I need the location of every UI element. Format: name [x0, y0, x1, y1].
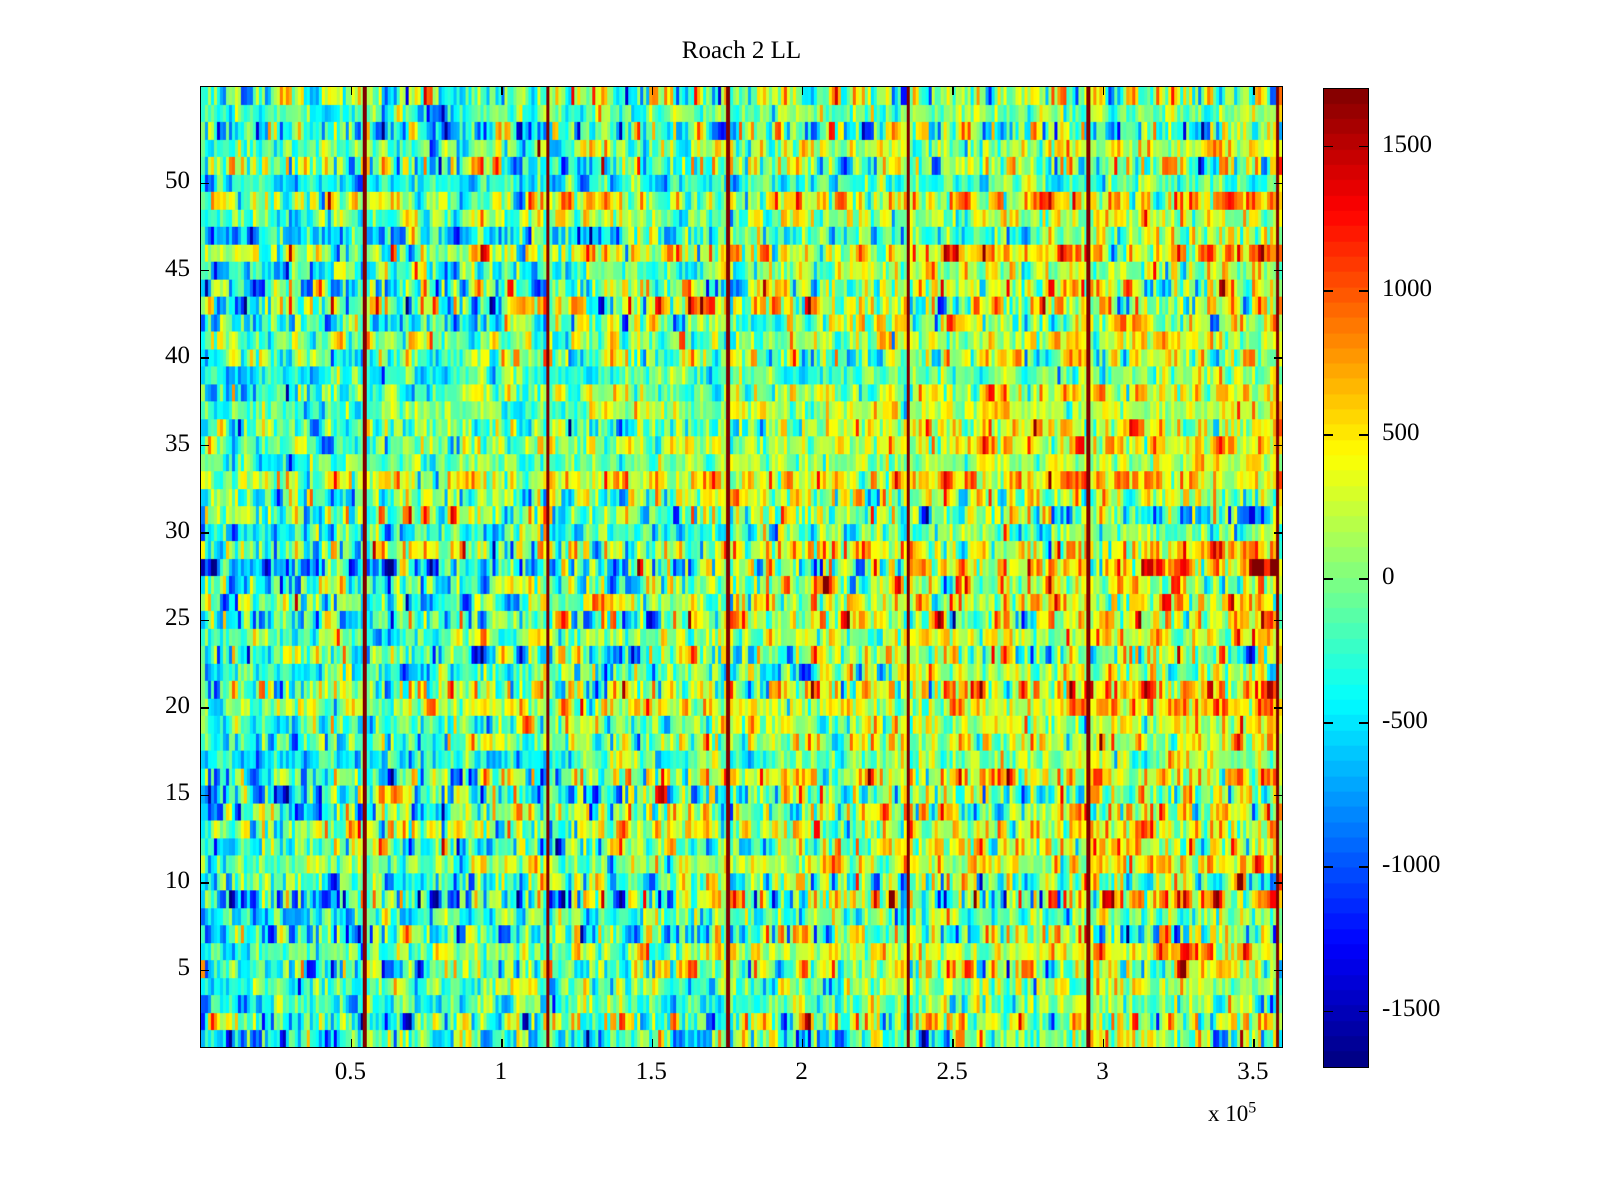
y-axis-tick-left [201, 445, 209, 446]
figure-canvas: Roach 2 LL x 105 0.511.522.533.551015202… [0, 0, 1600, 1200]
heatmap-image [201, 87, 1282, 1047]
colorbar-tick-right [1359, 434, 1368, 436]
y-axis-tick-left [201, 795, 209, 796]
y-axis-tick-label: 15 [100, 779, 190, 807]
y-axis-tick-right [1274, 357, 1282, 358]
y-axis-tick-left [201, 707, 209, 708]
x-axis-multiplier: x 105 [1208, 1101, 1256, 1127]
colorbar-tick-label: -500 [1382, 707, 1428, 735]
y-axis-tick-left [201, 620, 209, 621]
y-axis-tick-left [201, 270, 209, 271]
colorbar-tick-right [1359, 146, 1368, 148]
page-title: Roach 2 LL [200, 36, 1283, 66]
x-axis-tick-label: 0.5 [290, 1058, 410, 1086]
colorbar-tick-label: 1500 [1382, 131, 1432, 159]
y-axis-tick-left [201, 882, 209, 883]
y-axis-tick-right [1274, 970, 1282, 971]
y-axis-tick-label: 25 [100, 604, 190, 632]
x-axis-tick-bottom [802, 1039, 803, 1047]
y-axis-tick-right [1274, 445, 1282, 446]
y-axis-tick-label: 10 [100, 867, 190, 895]
x-axis-multiplier-base: x 10 [1208, 1101, 1248, 1126]
x-axis-tick-top [1103, 87, 1104, 95]
y-axis-tick-right [1274, 183, 1282, 184]
x-axis-tick-label: 1 [441, 1058, 561, 1086]
x-axis-tick-bottom [1253, 1039, 1254, 1047]
x-axis-tick-top [952, 87, 953, 95]
y-axis-tick-label: 40 [100, 342, 190, 370]
x-axis-tick-label: 2 [742, 1058, 862, 1086]
colorbar-tick-left [1324, 146, 1333, 148]
x-axis-tick-top [1253, 87, 1254, 95]
x-axis-tick-top [652, 87, 653, 95]
x-axis-tick-top [501, 87, 502, 95]
y-axis-tick-left [201, 357, 209, 358]
colorbar-tick-label: -1000 [1382, 851, 1440, 879]
colorbar-tick-label: 0 [1382, 563, 1395, 591]
colorbar-tick-right [1359, 722, 1368, 724]
x-axis-tick-label: 3.5 [1193, 1058, 1313, 1086]
y-axis-tick-right [1274, 882, 1282, 883]
colorbar-tick-right [1359, 578, 1368, 580]
y-axis-tick-label: 50 [100, 167, 190, 195]
y-axis-tick-right [1274, 620, 1282, 621]
x-axis-tick-top [351, 87, 352, 95]
x-axis-tick-top [802, 87, 803, 95]
colorbar-tick-left [1324, 578, 1333, 580]
colorbar-tick-right [1359, 290, 1368, 292]
y-axis-tick-left [201, 532, 209, 533]
colorbar-tick-left [1324, 866, 1333, 868]
heatmap-axes[interactable] [200, 86, 1283, 1048]
x-axis-tick-bottom [952, 1039, 953, 1047]
colorbar-tick-label: -1500 [1382, 995, 1440, 1023]
colorbar-tick-left [1324, 434, 1333, 436]
y-axis-tick-label: 30 [100, 517, 190, 545]
colorbar-tick-label: 1000 [1382, 275, 1432, 303]
y-axis-tick-label: 5 [100, 954, 190, 982]
colorbar-tick-right [1359, 866, 1368, 868]
x-axis-tick-bottom [1103, 1039, 1104, 1047]
y-axis-tick-label: 20 [100, 692, 190, 720]
colorbar-tick-right [1359, 1011, 1368, 1013]
y-axis-tick-left [201, 970, 209, 971]
y-axis-tick-label: 45 [100, 255, 190, 283]
x-axis-tick-bottom [351, 1039, 352, 1047]
y-axis-tick-right [1274, 270, 1282, 271]
colorbar[interactable] [1323, 88, 1369, 1068]
y-axis-tick-right [1274, 795, 1282, 796]
x-axis-tick-bottom [652, 1039, 653, 1047]
x-axis-multiplier-exponent: 5 [1248, 1099, 1256, 1116]
y-axis-tick-label: 35 [100, 430, 190, 458]
y-axis-tick-right [1274, 532, 1282, 533]
x-axis-tick-bottom [501, 1039, 502, 1047]
colorbar-tick-label: 500 [1382, 419, 1420, 447]
x-axis-tick-label: 3 [1043, 1058, 1163, 1086]
colorbar-tick-left [1324, 290, 1333, 292]
colorbar-tick-left [1324, 722, 1333, 724]
colorbar-tick-left [1324, 1011, 1333, 1013]
y-axis-tick-right [1274, 707, 1282, 708]
x-axis-tick-label: 1.5 [591, 1058, 711, 1086]
y-axis-tick-left [201, 183, 209, 184]
x-axis-tick-label: 2.5 [892, 1058, 1012, 1086]
